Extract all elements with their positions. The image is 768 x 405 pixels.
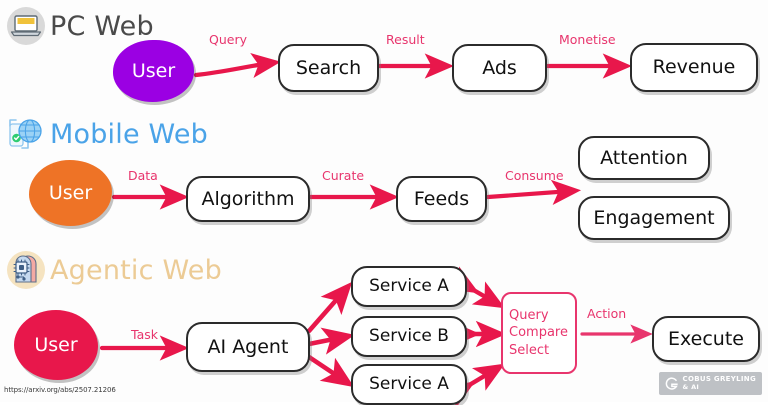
g-logo-icon	[664, 376, 679, 391]
edge-label-result: Result	[386, 32, 425, 47]
node-feeds[interactable]: Feeds	[396, 176, 487, 222]
node-service-a-2[interactable]: Service A	[351, 364, 467, 405]
node-decision-query-compare-select[interactable]: Query Compare Select	[501, 292, 577, 374]
node-execute-label: Execute	[668, 330, 744, 349]
node-revenue[interactable]: Revenue	[630, 43, 758, 92]
node-service-b[interactable]: Service B	[351, 316, 467, 357]
node-engagement-label: Engagement	[593, 209, 714, 228]
mobile-globe-icon	[6, 114, 46, 154]
user-node-agentic-label: User	[34, 334, 77, 356]
arrow-feeds-consume	[488, 191, 571, 197]
node-ai-agent-label: AI Agent	[208, 338, 289, 357]
decision-line-select: Select	[509, 342, 569, 359]
node-attention[interactable]: Attention	[578, 136, 710, 180]
user-node-agentic[interactable]: User	[14, 310, 98, 380]
section-title-mobile: Mobile Web	[6, 114, 208, 154]
node-service-a-1-label: Service A	[369, 278, 449, 295]
source-url[interactable]: https://arxiv.org/abs/2507.21206	[4, 386, 116, 394]
node-ads[interactable]: Ads	[452, 44, 547, 92]
diagram-canvas: PC Web User Search Ads Revenue Query Res…	[0, 0, 768, 402]
node-execute[interactable]: Execute	[652, 316, 760, 362]
node-feeds-label: Feeds	[414, 190, 469, 209]
user-node-mobile-label: User	[49, 182, 92, 204]
watermark-line-2: & AI	[683, 384, 756, 391]
ai-brain-chip-icon	[6, 250, 46, 290]
section-title-pc-label: PC Web	[50, 11, 154, 42]
node-search[interactable]: Search	[278, 44, 379, 92]
edge-label-consume: Consume	[505, 168, 564, 183]
section-title-agentic-label: Agentic Web	[50, 255, 222, 286]
node-attention-label: Attention	[600, 149, 688, 168]
decision-line-compare: Compare	[509, 324, 569, 341]
decision-line-query: Query	[509, 307, 569, 324]
node-service-a-2-label: Service A	[369, 376, 449, 393]
user-node-pc[interactable]: User	[113, 40, 194, 102]
arrow-aiagent-servicea1	[309, 290, 345, 331]
edge-label-action: Action	[587, 306, 626, 321]
node-revenue-label: Revenue	[653, 58, 736, 77]
user-node-pc-label: User	[132, 60, 175, 82]
watermark-cobus-greyling: COBUS GREYLING & AI	[659, 372, 762, 395]
edge-label-monetise: Monetise	[559, 32, 616, 47]
section-title-mobile-label: Mobile Web	[50, 119, 208, 150]
edge-label-query: Query	[209, 32, 247, 47]
node-ai-agent[interactable]: AI Agent	[186, 322, 310, 372]
node-service-b-label: Service B	[369, 328, 449, 345]
node-ads-label: Ads	[482, 59, 517, 78]
edge-label-data: Data	[128, 168, 158, 183]
node-algorithm-label: Algorithm	[201, 190, 294, 209]
edge-label-task: Task	[131, 327, 158, 342]
arrow-servicea1-decision	[470, 288, 496, 303]
arrow-aiagent-servicea2	[309, 357, 345, 381]
laptop-icon	[6, 6, 46, 46]
node-search-label: Search	[296, 59, 361, 78]
arrow-user-search	[196, 63, 271, 75]
node-algorithm[interactable]: Algorithm	[186, 176, 310, 222]
section-title-pc: PC Web	[6, 6, 154, 46]
user-node-mobile[interactable]: User	[29, 160, 112, 226]
arrow-aiagent-serviceb	[309, 337, 344, 344]
node-engagement[interactable]: Engagement	[578, 196, 730, 240]
section-title-agentic: Agentic Web	[6, 250, 222, 290]
edge-label-curate: Curate	[322, 168, 364, 183]
arrow-servicea2-decision	[466, 369, 496, 387]
node-service-a-1[interactable]: Service A	[351, 266, 467, 307]
